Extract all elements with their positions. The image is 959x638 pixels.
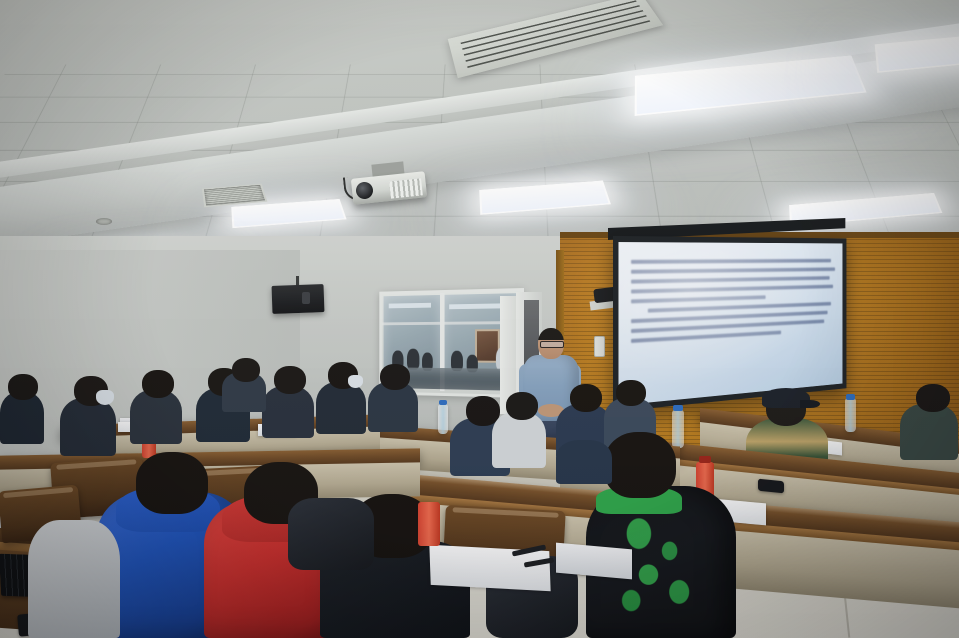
booth-ceiling-light: [389, 303, 431, 309]
bottle-cap: [846, 394, 855, 400]
wall-switch-plate[interactable]: [594, 336, 605, 357]
backpack: [288, 498, 374, 570]
student-head: [604, 432, 676, 498]
water-bottle: [438, 404, 448, 434]
booth-ceiling-light-2: [449, 303, 503, 309]
screen-surface: [618, 242, 842, 405]
bottle-cap: [439, 400, 447, 405]
lecturer-eyeglasses: [540, 341, 564, 348]
bottle-cap: [673, 405, 683, 411]
projector-vent-fins: [389, 178, 423, 198]
red-bottle-cap: [699, 456, 711, 463]
speaker-driver: [302, 292, 310, 304]
water-bottle: [845, 398, 856, 432]
wall-speaker: [272, 284, 325, 314]
cap-brim: [800, 400, 820, 408]
face-mask: [348, 375, 363, 388]
face-mask: [96, 390, 114, 405]
red-label-bottle: [418, 502, 440, 546]
projection-screen[interactable]: [613, 236, 846, 412]
sprinkler-head-left: [96, 218, 112, 225]
water-bottle: [672, 410, 684, 448]
student-head: [136, 452, 208, 514]
lecture-hall-photo: [0, 0, 959, 638]
